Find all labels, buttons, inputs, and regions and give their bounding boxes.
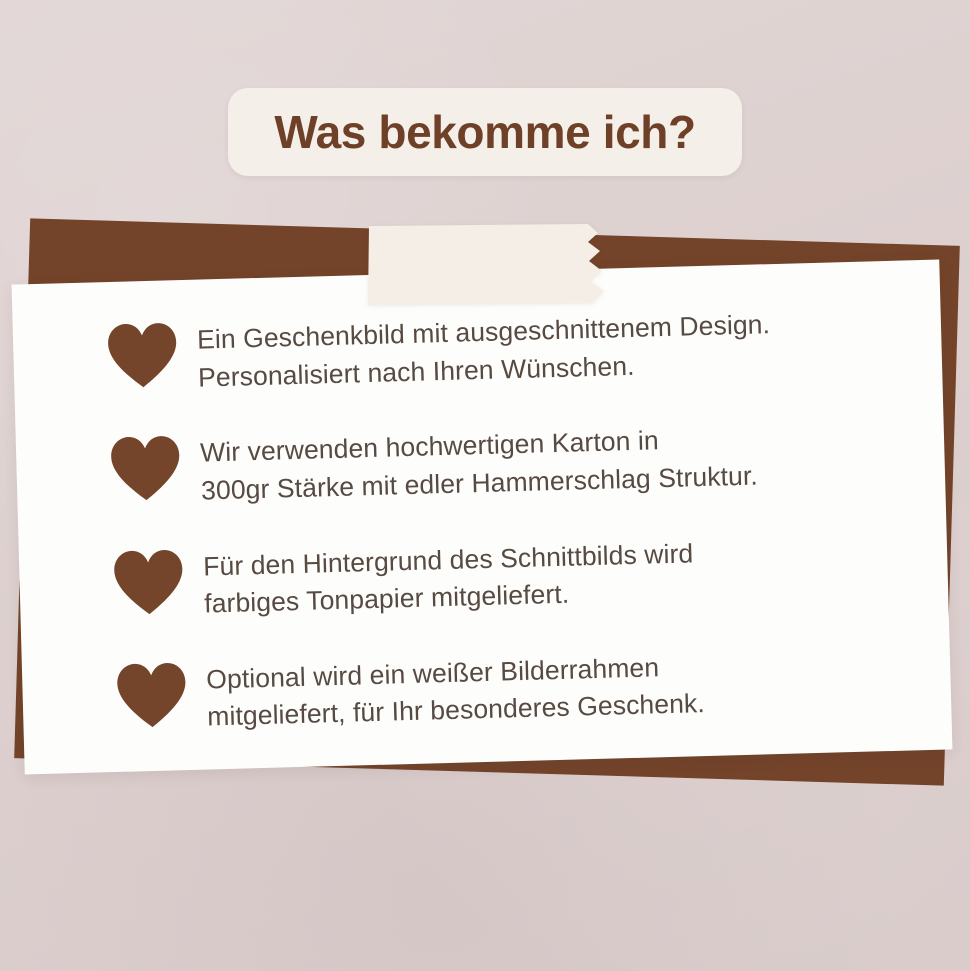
page-title: Was bekomme ich? bbox=[274, 109, 695, 155]
list-item: Für den Hintergrund des Schnittbilds wir… bbox=[111, 523, 903, 626]
list-item: Optional wird ein weißer Bilderrahmen mi… bbox=[114, 636, 906, 739]
list-item-text: Wir verwenden hochwertigen Karton in 300… bbox=[200, 414, 759, 510]
washi-tape bbox=[366, 224, 610, 307]
list-item: Wir verwenden hochwertigen Karton in 300… bbox=[108, 410, 900, 513]
title-pill: Was bekomme ich? bbox=[228, 88, 742, 176]
list-item: Ein Geschenkbild mit ausgeschnittenem De… bbox=[104, 297, 896, 400]
infographic-canvas: Ein Geschenkbild mit ausgeschnittenem De… bbox=[0, 0, 970, 971]
heart-icon bbox=[114, 658, 190, 734]
list-item-text: Für den Hintergrund des Schnittbilds wir… bbox=[203, 529, 695, 623]
heart-icon bbox=[111, 545, 187, 621]
list-item-text: Ein Geschenkbild mit ausgeschnittenem De… bbox=[196, 300, 771, 397]
list-item-text: Optional wird ein weißer Bilderrahmen mi… bbox=[206, 642, 706, 737]
white-content-card: Ein Geschenkbild mit ausgeschnittenem De… bbox=[12, 260, 953, 775]
heart-icon bbox=[105, 318, 181, 394]
benefits-list: Ein Geschenkbild mit ausgeschnittenem De… bbox=[104, 297, 905, 739]
heart-icon bbox=[108, 431, 184, 507]
